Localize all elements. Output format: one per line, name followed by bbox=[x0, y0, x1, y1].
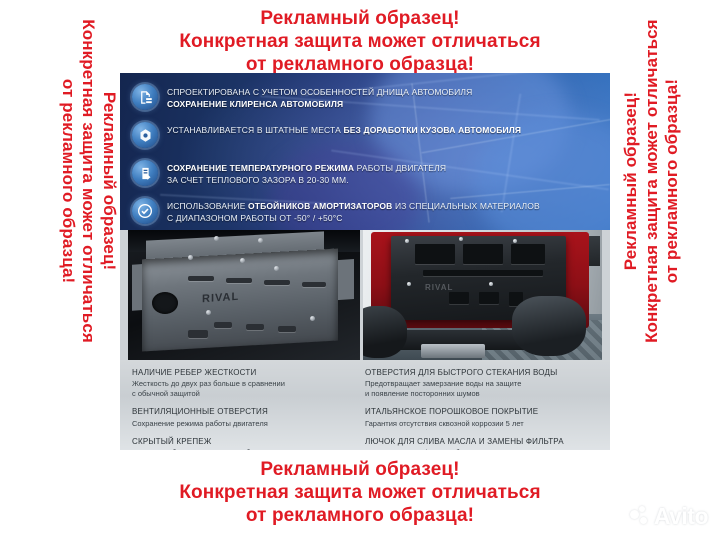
photo-strip: RIVAL RIVAL bbox=[120, 230, 610, 360]
feature-item-fitment: УСТАНАВЛИВАЕТСЯ В ШТАТНЫЕ МЕСТА БЕЗ ДОРА… bbox=[132, 122, 521, 148]
spec-title: ОТВЕРСТИЯ ДЛЯ БЫСТРОГО СТЕКАНИЯ ВОДЫ bbox=[365, 368, 590, 378]
spec-item: НАЛИЧИЕ РЕБЕР ЖЕСТКОСТИ Жесткость до дву… bbox=[132, 368, 357, 399]
feature-item-clearance: СПРОЕКТИРОВАНА С УЧЕТОМ ОСОБЕННОСТЕЙ ДНИ… bbox=[132, 84, 472, 111]
gear-check-icon bbox=[132, 198, 158, 224]
specs-column-right: ОТВЕРСТИЯ ДЛЯ БЫСТРОГО СТЕКАНИЯ ВОДЫ Пре… bbox=[365, 368, 590, 450]
spec-title: ИТАЛЬЯНСКОЕ ПОРОШКОВОЕ ПОКРЫТИЕ bbox=[365, 407, 590, 417]
features-panel: СПРОЕКТИРОВАНА С УЧЕТОМ ОСОБЕННОСТЕЙ ДНИ… bbox=[120, 73, 610, 230]
feature-text: УСТАНАВЛИВАЕТСЯ В ШТАТНЫЕ МЕСТА БЕЗ ДОРА… bbox=[167, 122, 521, 136]
hex-nut-icon bbox=[132, 122, 158, 148]
spec-desc: Жесткость до двух раз больше в сравнении… bbox=[132, 379, 357, 399]
avito-logo-icon bbox=[630, 506, 651, 527]
feature-item-temperature: СОХРАНЕНИЕ ТЕМПЕРАТУРНОГО РЕЖИМА РАБОТЫ … bbox=[132, 160, 446, 187]
spec-title: ВЕНТИЛЯЦИОННЫЕ ОТВЕРСТИЯ bbox=[132, 407, 357, 417]
spec-title: ЛЮЧОК ДЛЯ СЛИВА МАСЛА И ЗАМЕНЫ ФИЛЬТРА bbox=[365, 437, 590, 447]
spec-item: ВЕНТИЛЯЦИОННЫЕ ОТВЕРСТИЯ Сохранение режи… bbox=[132, 407, 357, 428]
watermark-top: Рекламный образец! Конкретная защита мож… bbox=[150, 7, 570, 77]
avito-logo-text: Avito bbox=[654, 503, 708, 530]
watermark-left: Рекламный образец! Конкретная защита мож… bbox=[57, 0, 119, 391]
plate-logo: RIVAL bbox=[425, 283, 453, 292]
spec-title: СКРЫТЫЙ КРЕПЕЖ bbox=[132, 437, 357, 447]
watermark-right: Рекламный образец! Конкретная защита мож… bbox=[621, 0, 683, 391]
feature-text: СПРОЕКТИРОВАНА С УЧЕТОМ ОСОБЕННОСТЕЙ ДНИ… bbox=[167, 84, 472, 111]
clipboard-pencil-icon bbox=[132, 160, 158, 186]
spec-item: ИТАЛЬЯНСКОЕ ПОРОШКОВОЕ ПОКРЫТИЕ Гарантия… bbox=[365, 407, 590, 428]
steel-skid-plate-photo: RIVAL bbox=[128, 230, 360, 360]
product-info-card: СПРОЕКТИРОВАНА С УЧЕТОМ ОСОБЕННОСТЕЙ ДНИ… bbox=[120, 73, 610, 450]
spec-desc: Пассивная безопасность автомобиля bbox=[132, 448, 357, 450]
specs-column-left: НАЛИЧИЕ РЕБЕР ЖЕСТКОСТИ Жесткость до дву… bbox=[132, 368, 357, 450]
watermark-bottom: Рекламный образец! Конкретная защита мож… bbox=[150, 458, 570, 528]
spec-desc: Предотвращает замерзание воды на защите … bbox=[365, 379, 590, 399]
feature-text: СОХРАНЕНИЕ ТЕМПЕРАТУРНОГО РЕЖИМА РАБОТЫ … bbox=[167, 160, 446, 187]
spec-item: СКРЫТЫЙ КРЕПЕЖ Пассивная безопасность ав… bbox=[132, 437, 357, 450]
feature-item-bumpstops: ИСПОЛЬЗОВАНИЕ ОТБОЙНИКОВ АМОРТИЗАТОРОВ И… bbox=[132, 198, 540, 225]
specs-panel: НАЛИЧИЕ РЕБЕР ЖЕСТКОСТИ Жесткость до дву… bbox=[120, 360, 610, 450]
feature-text: ИСПОЛЬЗОВАНИЕ ОТБОЙНИКОВ АМОРТИЗАТОРОВ И… bbox=[167, 198, 540, 225]
spec-desc: Гарантия отсутствия сквозной коррозии 5 … bbox=[365, 419, 590, 429]
spec-title: НАЛИЧИЕ РЕБЕР ЖЕСТКОСТИ bbox=[132, 368, 357, 378]
spec-desc: Замена масла и фильтра без снятия и уста… bbox=[365, 448, 590, 450]
red-car-underbody-photo: RIVAL bbox=[363, 230, 602, 360]
spec-item: ЛЮЧОК ДЛЯ СЛИВА МАСЛА И ЗАМЕНЫ ФИЛЬТРА З… bbox=[365, 437, 590, 450]
spec-item: ОТВЕРСТИЯ ДЛЯ БЫСТРОГО СТЕКАНИЯ ВОДЫ Пре… bbox=[365, 368, 590, 399]
spec-desc: Сохранение режима работы двигателя bbox=[132, 419, 357, 429]
ruler-document-icon bbox=[132, 84, 158, 110]
advert-image: Рекламный образец! Конкретная защита мож… bbox=[0, 0, 720, 540]
avito-watermark: Avito bbox=[630, 503, 708, 530]
